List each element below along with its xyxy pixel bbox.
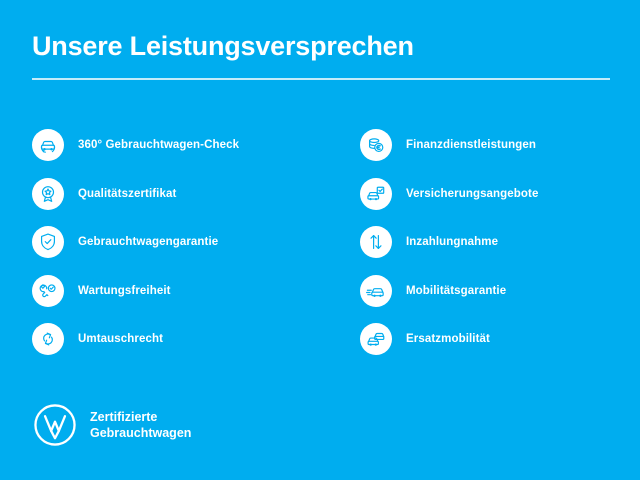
footer-logo-lockup: Zertifizierte Gebrauchtwagen — [32, 402, 191, 448]
feature-columns: 360° Gebrauchtwagen-Check Qualitätszerti… — [0, 121, 640, 364]
feature-item-mobility-guarantee[interactable]: Mobilitätsgarantie — [360, 267, 640, 316]
footer-text: Zertifizierte Gebrauchtwagen — [90, 409, 191, 441]
feature-label: Gebrauchtwagengarantie — [78, 236, 218, 248]
feature-label: Wartungsfreiheit — [78, 285, 171, 297]
header: Unsere Leistungsversprechen — [32, 30, 610, 80]
shield-check-icon — [32, 226, 64, 258]
feature-column-left: 360° Gebrauchtwagen-Check Qualitätszerti… — [0, 121, 320, 364]
feature-item-warranty[interactable]: Gebrauchtwagengarantie — [32, 218, 320, 267]
footer-line-2: Gebrauchtwagen — [90, 425, 191, 441]
feature-column-right: Finanzdienstleistungen Versicherungsange… — [320, 121, 640, 364]
exchange-arrows-icon — [32, 323, 64, 355]
up-down-arrows-icon — [360, 226, 392, 258]
feature-label: Qualitätszertifikat — [78, 188, 176, 200]
feature-label: Finanzdienstleistungen — [406, 139, 536, 151]
feature-item-maintenance-free[interactable]: Wartungsfreiheit — [32, 267, 320, 316]
vw-logo-icon — [32, 402, 78, 448]
feature-item-insurance-offers[interactable]: Versicherungsangebote — [360, 170, 640, 219]
feature-label: Inzahlungnahme — [406, 236, 498, 248]
two-cars-icon — [360, 323, 392, 355]
slide-root: Unsere Leistungsversprechen — [0, 0, 640, 480]
feature-label: 360° Gebrauchtwagen-Check — [78, 139, 239, 151]
footer-line-1: Zertifizierte — [90, 409, 191, 425]
car-motion-icon — [360, 275, 392, 307]
feature-item-replacement-mobility[interactable]: Ersatzmobilität — [360, 315, 640, 364]
page-title: Unsere Leistungsversprechen — [32, 30, 610, 62]
feature-label: Ersatzmobilität — [406, 333, 490, 345]
coins-euro-icon — [360, 129, 392, 161]
feature-item-exchange-right[interactable]: Umtauschrecht — [32, 315, 320, 364]
title-divider — [32, 78, 610, 80]
feature-label: Versicherungsangebote — [406, 188, 538, 200]
car-document-check-icon — [360, 178, 392, 210]
wrench-check-icon — [32, 275, 64, 307]
feature-label: Umtauschrecht — [78, 333, 163, 345]
quality-seal-icon — [32, 178, 64, 210]
feature-item-360-check[interactable]: 360° Gebrauchtwagen-Check — [32, 121, 320, 170]
feature-item-financial-services[interactable]: Finanzdienstleistungen — [360, 121, 640, 170]
feature-item-quality-certificate[interactable]: Qualitätszertifikat — [32, 170, 320, 219]
feature-item-trade-in[interactable]: Inzahlungnahme — [360, 218, 640, 267]
car-360-check-icon — [32, 129, 64, 161]
feature-label: Mobilitätsgarantie — [406, 285, 506, 297]
